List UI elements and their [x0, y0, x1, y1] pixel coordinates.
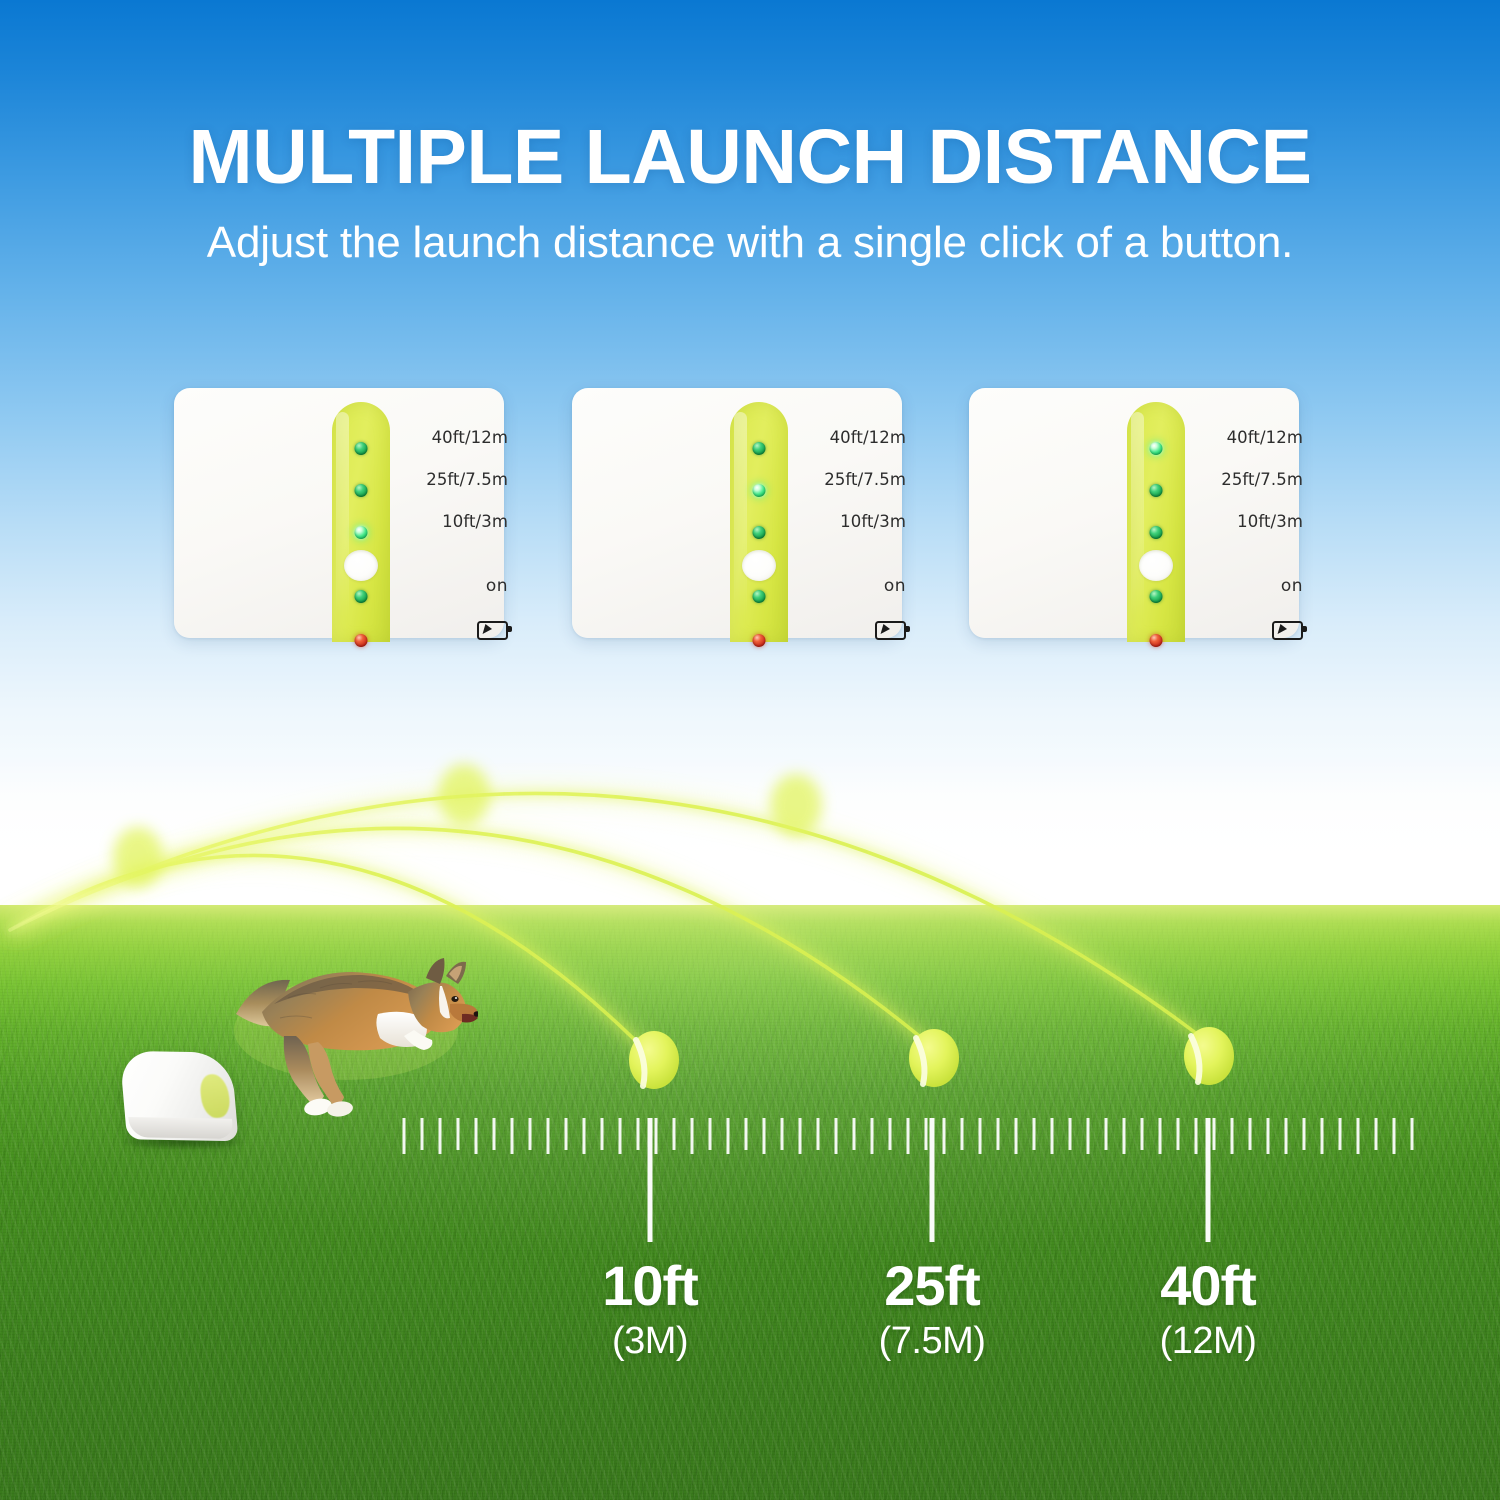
distance-label-40ft: 40ft (12M) — [1088, 1258, 1328, 1369]
power-button[interactable] — [742, 550, 776, 581]
tennis-ball-motion-3 — [770, 774, 822, 836]
led-power — [753, 590, 766, 603]
page-title: MULTIPLE LAUNCH DISTANCE — [0, 0, 1500, 197]
tennis-ball-40ft — [1184, 1027, 1234, 1085]
led-40ft — [1150, 442, 1163, 455]
control-panel-card-10ft[interactable]: 40ft/12m 25ft/7.5m 10ft/3m on — [174, 388, 504, 638]
control-panel-cards: 40ft/12m 25ft/7.5m 10ft/3m on 40ft/12m — [0, 388, 1500, 640]
led-strip — [1127, 402, 1185, 642]
power-button[interactable] — [344, 550, 378, 581]
distance-meters: (7.5M) — [812, 1314, 1052, 1369]
tennis-ball-motion-1 — [113, 827, 163, 887]
led-10ft — [1150, 526, 1163, 539]
led-25ft — [355, 484, 368, 497]
page-subtitle: Adjust the launch distance with a single… — [0, 197, 1500, 267]
tennis-ball-25ft — [909, 1029, 959, 1087]
led-power — [355, 590, 368, 603]
distance-feet: 10ft — [530, 1258, 770, 1314]
tennis-ball-10ft — [629, 1031, 679, 1089]
distance-label-10ft: 10ft (3M) — [530, 1258, 770, 1369]
ball-launcher-device — [123, 1042, 241, 1142]
led-strip — [730, 402, 788, 642]
led-10ft — [753, 526, 766, 539]
battery-charging-icon — [477, 621, 508, 640]
distance-ruler — [400, 1110, 1430, 1270]
battery-charging-icon — [1272, 621, 1303, 640]
header: MULTIPLE LAUNCH DISTANCE Adjust the laun… — [0, 0, 1500, 267]
distance-feet: 40ft — [1088, 1258, 1328, 1314]
led-10ft — [355, 526, 368, 539]
control-panel-card-40ft[interactable]: 40ft/12m 25ft/7.5m 10ft/3m on — [969, 388, 1299, 638]
battery-charging-icon — [875, 621, 906, 640]
distance-meters: (3M) — [530, 1314, 770, 1369]
control-panel-card-25ft[interactable]: 40ft/12m 25ft/7.5m 10ft/3m on — [572, 388, 902, 638]
power-button[interactable] — [1139, 550, 1173, 581]
led-25ft — [753, 484, 766, 497]
distance-feet: 25ft — [812, 1258, 1052, 1314]
led-strip — [332, 402, 390, 642]
led-power — [1150, 590, 1163, 603]
led-40ft — [355, 442, 368, 455]
led-25ft — [1150, 484, 1163, 497]
led-40ft — [753, 442, 766, 455]
distance-label-25ft: 25ft (7.5M) — [812, 1258, 1052, 1369]
distance-meters: (12M) — [1088, 1314, 1328, 1369]
tennis-ball-motion-2 — [438, 764, 490, 826]
product-feature-graphic: MULTIPLE LAUNCH DISTANCE Adjust the laun… — [0, 0, 1500, 1500]
launcher-base — [128, 1117, 233, 1139]
